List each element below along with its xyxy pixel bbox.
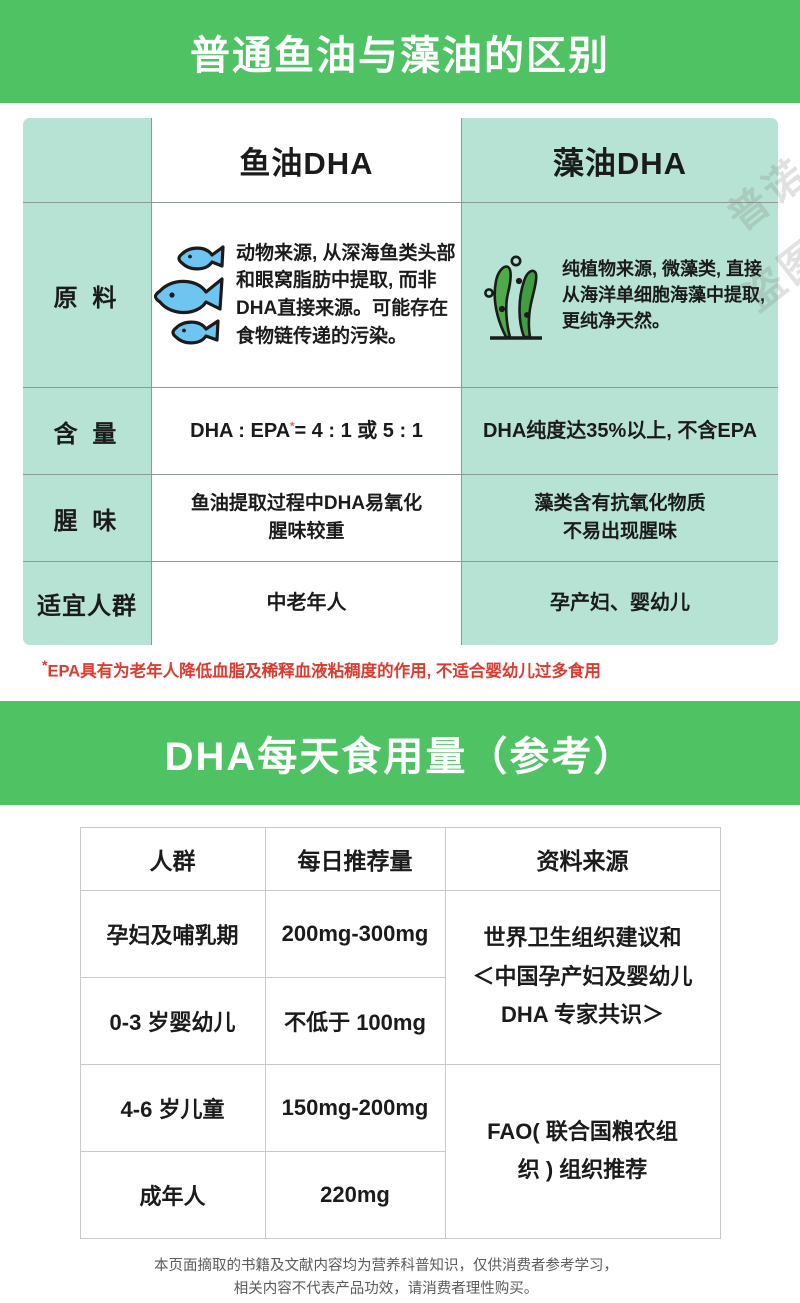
- cell-algae-smell-line2: 不易出现腥味: [462, 518, 778, 546]
- fish-icon: [152, 236, 230, 354]
- cell-fish-people: 中老年人: [152, 562, 462, 647]
- dosage-source-0-line1: 世界卫生组织建议和: [452, 919, 714, 958]
- table-row: 孕妇及哺乳期 200mg-300mg 世界卫生组织建议和 ＜中国孕产妇及婴幼儿 …: [80, 890, 720, 977]
- dosage-dose-0: 200mg-300mg: [265, 890, 445, 977]
- header-algae-oil: 藻油DHA: [462, 117, 780, 203]
- fish-content-suffix: = 4 : 1 或 5 : 1: [294, 420, 422, 442]
- header-fish-oil: 鱼油DHA: [152, 117, 462, 203]
- comparison-section: 普诺 盗图 鱼油DHA 藻油DHA 原 料: [0, 103, 800, 682]
- cell-algae-source: 纯植物来源, 微藻类, 直接从海洋单细胞海藻中提取, 更纯净天然。: [462, 203, 780, 388]
- dosage-source-1-line2: 织 ) 组织推荐: [452, 1151, 714, 1190]
- row-label-smell: 腥 味: [22, 475, 152, 562]
- dosage-group-2: 4-6 岁儿童: [80, 1064, 265, 1151]
- banner-compare-title: 普通鱼油与藻油的区别: [0, 0, 800, 103]
- cell-fish-source-text: 动物来源, 从深海鱼类头部和眼窝脂肪中提取, 而非DHA直接来源。可能存在食物链…: [236, 240, 461, 350]
- row-label-source: 原 料: [22, 203, 152, 388]
- dosage-header-dose: 每日推荐量: [265, 827, 445, 890]
- dosage-source-0: 世界卫生组织建议和 ＜中国孕产妇及婴幼儿 DHA 专家共识＞: [445, 890, 720, 1064]
- dosage-source-0-line3: DHA 专家共识＞: [452, 996, 714, 1035]
- table-row: 4-6 岁儿童 150mg-200mg FAO( 联合国粮农组 织 ) 组织推荐: [80, 1064, 720, 1151]
- disclaimer-line1: 本页面摘取的书籍及文献内容均为营养科普知识，仅供消费者参考学习，: [154, 1255, 618, 1279]
- cell-fish-smell: 鱼油提取过程中DHA易氧化 腥味较重: [152, 475, 462, 562]
- cell-fish-source: 动物来源, 从深海鱼类头部和眼窝脂肪中提取, 而非DHA直接来源。可能存在食物链…: [152, 203, 462, 388]
- dosage-group-3: 成年人: [80, 1151, 265, 1238]
- dosage-group-1: 0-3 岁婴幼儿: [80, 977, 265, 1064]
- dosage-table: 人群 每日推荐量 资料来源 孕妇及哺乳期 200mg-300mg 世界卫生组织建…: [80, 827, 721, 1239]
- dosage-dose-2: 150mg-200mg: [265, 1064, 445, 1151]
- table-row-smell: 腥 味 鱼油提取过程中DHA易氧化 腥味较重 藻类含有抗氧化物质 不易出现腥味: [22, 475, 780, 562]
- cell-fish-content: DHA : EPA*= 4 : 1 或 5 : 1: [152, 388, 462, 475]
- dosage-dose-3: 220mg: [265, 1151, 445, 1238]
- row-label-people: 适宜人群: [22, 562, 152, 647]
- table-header-row: 鱼油DHA 藻油DHA: [22, 117, 780, 203]
- banner-dosage-title: DHA每天食用量（参考）: [0, 701, 800, 805]
- cell-algae-source-text: 纯植物来源, 微藻类, 直接从海洋单细胞海藻中提取, 更纯净天然。: [562, 256, 778, 334]
- epa-footnote: *EPA具有为老年人降低血脂及稀释血液粘稠度的作用, 不适合婴幼儿过多食用: [42, 657, 780, 682]
- dosage-source-1: FAO( 联合国粮农组 织 ) 组织推荐: [445, 1064, 720, 1238]
- dosage-group-0: 孕妇及哺乳期: [80, 890, 265, 977]
- cell-fish-smell-line1: 鱼油提取过程中DHA易氧化: [152, 490, 461, 518]
- footnote-text: EPA具有为老年人降低血脂及稀释血液粘稠度的作用, 不适合婴幼儿过多食用: [47, 663, 600, 681]
- table-row-content: 含 量 DHA : EPA*= 4 : 1 或 5 : 1 DHA纯度达35%以…: [22, 388, 780, 475]
- cell-fish-smell-line2: 腥味较重: [152, 518, 461, 546]
- comparison-table: 鱼油DHA 藻油DHA 原 料: [20, 115, 781, 648]
- seaweed-icon: [480, 241, 552, 349]
- cell-algae-content: DHA纯度达35%以上, 不含EPA: [462, 388, 780, 475]
- banner-2-text: DHA每天食用量（参考）: [165, 724, 636, 782]
- cell-algae-content-text: DHA纯度达35%以上, 不含EPA: [462, 417, 778, 446]
- table-row-people: 适宜人群 中老年人 孕产妇、婴幼儿: [22, 562, 780, 647]
- banner-1-text: 普通鱼油与藻油的区别: [190, 23, 610, 81]
- cell-algae-smell-line1: 藻类含有抗氧化物质: [462, 490, 778, 518]
- cell-algae-people-text: 孕产妇、婴幼儿: [462, 589, 778, 618]
- disclaimer: 本页面摘取的书籍及文献内容均为营养科普知识，仅供消费者参考学习， 相关内容不代表…: [0, 1255, 800, 1303]
- cell-algae-people: 孕产妇、婴幼儿: [462, 562, 780, 647]
- dosage-dose-1: 不低于 100mg: [265, 977, 445, 1064]
- dosage-section: 人群 每日推荐量 资料来源 孕妇及哺乳期 200mg-300mg 世界卫生组织建…: [0, 805, 800, 1239]
- fish-content-prefix: DHA : EPA: [190, 420, 290, 442]
- dosage-source-0-line2: ＜中国孕产妇及婴幼儿: [452, 958, 714, 997]
- disclaimer-line2: 相关内容不代表产品功效，请消费者理性购买。: [154, 1278, 618, 1302]
- table-row-source: 原 料: [22, 203, 780, 388]
- dosage-source-1-line1: FAO( 联合国粮农组: [452, 1113, 714, 1152]
- cell-fish-people-text: 中老年人: [152, 589, 461, 618]
- dosage-header-source: 资料来源: [445, 827, 720, 890]
- dosage-header-group: 人群: [80, 827, 265, 890]
- cell-algae-smell: 藻类含有抗氧化物质 不易出现腥味: [462, 475, 780, 562]
- dosage-header-row: 人群 每日推荐量 资料来源: [80, 827, 720, 890]
- header-blank: [22, 117, 152, 203]
- row-label-content: 含 量: [22, 388, 152, 475]
